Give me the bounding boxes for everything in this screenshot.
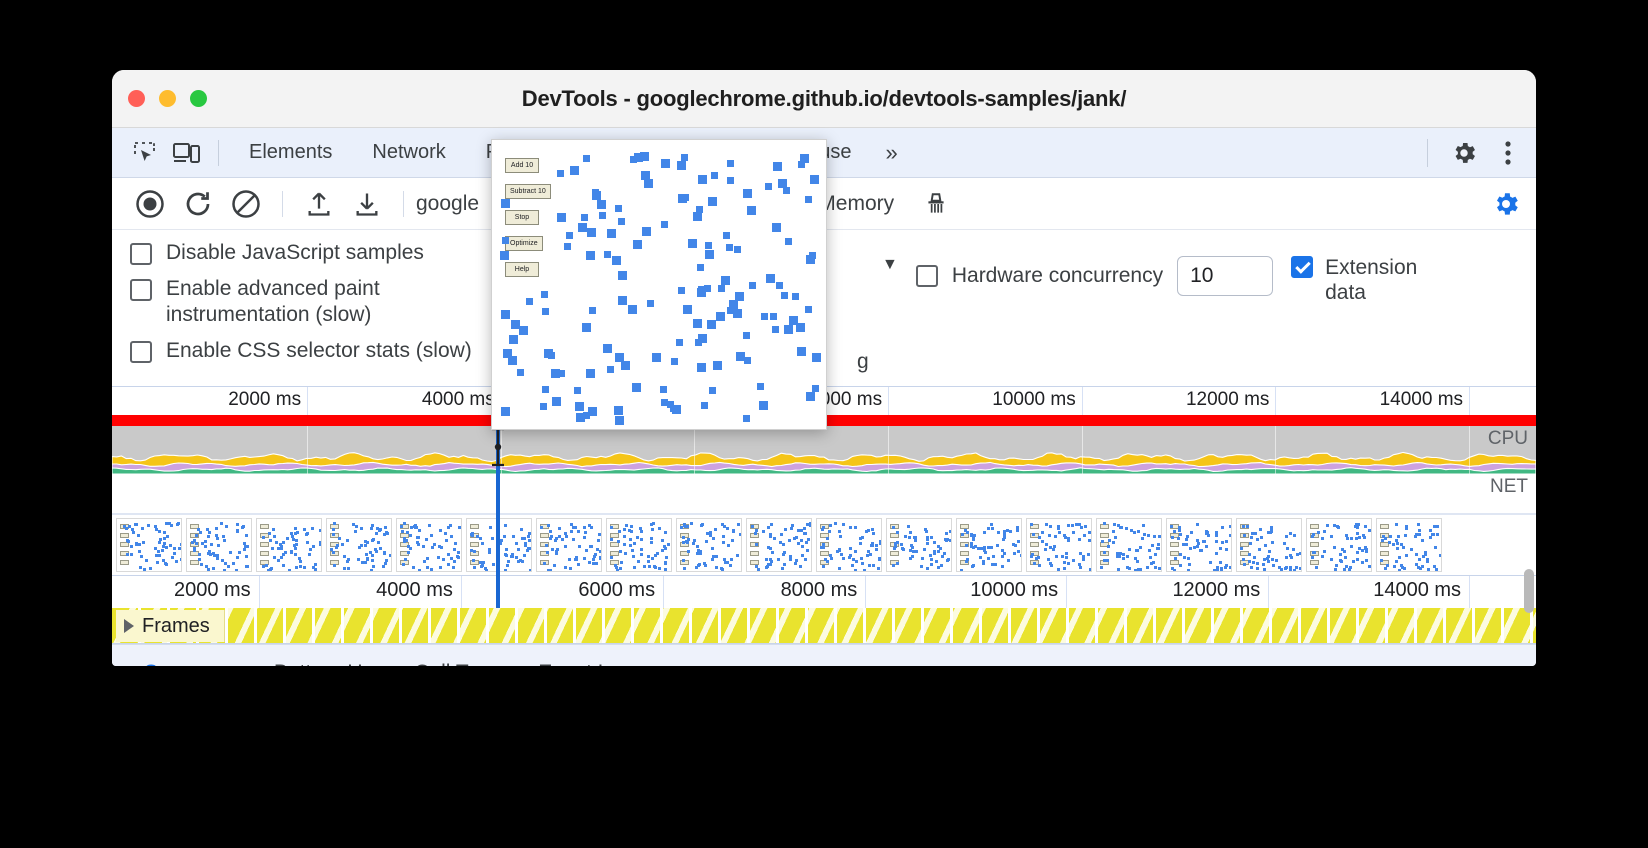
thumbnail-square	[1189, 547, 1192, 550]
thumbnail-square	[1434, 546, 1437, 549]
thumbnail-square	[806, 549, 809, 552]
thumbnail-square	[366, 558, 369, 561]
thumbnail-square	[386, 532, 389, 535]
thumbnail-square	[453, 548, 456, 551]
thumbnail-square	[1395, 523, 1398, 526]
overview-gridline	[307, 474, 308, 513]
thumbnail-square	[979, 556, 982, 559]
more-tabs-button[interactable]: »	[871, 136, 909, 170]
thumbnail-square	[997, 531, 1000, 534]
disable-js-samples-label: Disable JavaScript samples	[166, 240, 424, 266]
thumbnail-square	[1229, 534, 1232, 537]
clear-icon[interactable]	[222, 184, 270, 224]
filmstrip-thumbnail[interactable]	[536, 518, 602, 572]
preview-square	[693, 319, 702, 328]
thumbnail-square	[159, 538, 162, 541]
thumbnail-square	[1007, 559, 1010, 562]
tab-network[interactable]: Network	[352, 137, 465, 168]
thumbnail-square	[826, 560, 829, 563]
thumbnail-square	[1435, 568, 1438, 571]
thumbnail-button-glyph	[470, 542, 479, 547]
thumbnail-square	[332, 528, 335, 531]
thumbnail-square	[653, 565, 656, 568]
extension-data-label: Extension data	[1325, 256, 1435, 306]
thumbnail-square	[926, 538, 929, 541]
ruler-tick-label: 8000 ms	[781, 579, 866, 602]
preview-square	[566, 232, 573, 239]
settings-gear-icon[interactable]	[1444, 133, 1484, 173]
thumbnail-square	[839, 535, 842, 538]
thumbnail-square	[312, 545, 315, 548]
thumbnail-square	[360, 527, 363, 530]
preview-square	[798, 161, 805, 168]
filmstrip-thumbnail[interactable]	[956, 518, 1022, 572]
vertical-scrollbar-thumb[interactable]	[1524, 569, 1534, 613]
thumbnail-square	[549, 537, 552, 540]
thumbnail-square	[139, 566, 142, 569]
thumbnail-square	[262, 536, 265, 539]
thumbnail-square	[658, 527, 661, 530]
thumbnail-square	[665, 556, 668, 559]
thumbnail-square	[867, 550, 870, 553]
playhead-handle[interactable]	[490, 427, 506, 467]
thumbnail-square	[545, 544, 548, 547]
thumbnail-square	[409, 534, 412, 537]
thumbnail-square	[506, 564, 509, 567]
thumbnail-square	[221, 559, 224, 562]
thumbnail-square	[217, 544, 220, 547]
thumbnail-square	[1045, 523, 1048, 526]
thumbnail-square	[195, 542, 198, 545]
thumbnail-square	[782, 543, 785, 546]
preview-square	[812, 353, 821, 362]
thumbnail-square	[382, 565, 385, 568]
thumbnail-square	[1134, 569, 1137, 572]
thumbnail-square	[860, 557, 863, 560]
thumbnail-square	[198, 553, 201, 556]
thumbnail-square	[970, 533, 973, 536]
thumbnail-square	[1299, 567, 1302, 570]
thumbnail-square	[664, 561, 667, 564]
thumbnail-square	[272, 528, 275, 531]
thumbnail-square	[1087, 553, 1090, 556]
filmstrip-thumbnail[interactable]	[1096, 518, 1162, 572]
ruler-tick-label: 10000 ms	[970, 579, 1066, 602]
preview-square	[783, 187, 790, 194]
thumbnail-square	[619, 550, 622, 553]
preview-square	[628, 305, 637, 314]
thumbnail-square	[795, 536, 798, 539]
overview-gridline	[501, 474, 502, 513]
thumbnail-square	[966, 558, 969, 561]
preview-square	[670, 405, 677, 412]
expand-triangle-icon[interactable]	[124, 619, 134, 633]
thumbnail-square	[996, 544, 999, 547]
thumbnail-square	[859, 542, 862, 545]
preview-square	[726, 244, 733, 251]
thumbnail-square	[1361, 561, 1364, 564]
thumbnail-square	[471, 532, 474, 535]
thumbnail-square	[130, 545, 133, 548]
thumbnail-square	[1275, 559, 1278, 562]
thumbnail-square	[1017, 550, 1020, 553]
thumbnail-square	[1101, 540, 1104, 543]
thumbnail-button-glyph	[260, 551, 269, 556]
thumbnail-square	[1293, 534, 1296, 537]
advanced-paint-row[interactable]: Enable advanced paint instrumentation (s…	[130, 276, 542, 328]
screenshot-preview-popup: Add 10Subtract 10StopOptimizeHelp	[491, 139, 827, 430]
preview-square	[772, 326, 779, 333]
network-strip[interactable]: NET	[112, 474, 1536, 514]
tabbar-right-divider	[1427, 139, 1428, 167]
hardware-concurrency-input[interactable]: 10	[1177, 256, 1273, 296]
upload-profile-icon[interactable]	[295, 184, 343, 224]
thumbnail-square	[332, 551, 335, 554]
thumbnail-square	[385, 559, 388, 562]
thumbnail-square	[904, 535, 907, 538]
thumbnail-square	[433, 543, 436, 546]
thumbnail-square	[1356, 532, 1359, 535]
thumbnail-square	[1283, 542, 1286, 545]
thumbnail-square	[1344, 556, 1347, 559]
thumbnail-square	[1315, 566, 1318, 569]
cpu-activity-strip[interactable]: CPU	[112, 426, 1536, 474]
thumbnail-square	[314, 563, 317, 566]
tabbar-divider	[218, 140, 219, 166]
more-options-icon[interactable]	[1488, 133, 1528, 173]
thumbnail-square	[437, 556, 440, 559]
filmstrip-thumbnail[interactable]	[326, 518, 392, 572]
thumbnail-square	[1139, 546, 1142, 549]
thumbnail-square	[1352, 560, 1355, 563]
preview-square	[693, 212, 702, 221]
thumbnail-square	[245, 555, 248, 558]
overview-gridline	[1275, 426, 1276, 474]
thumbnail-square	[1267, 555, 1270, 558]
preview-square	[644, 179, 653, 188]
preview-square	[677, 161, 686, 170]
filmstrip-thumbnail[interactable]	[606, 518, 672, 572]
thumbnail-square	[650, 523, 653, 526]
thumbnail-square	[940, 564, 943, 567]
thumbnail-square	[319, 529, 322, 532]
thumbnail-square	[1292, 548, 1295, 551]
thumbnail-square	[1067, 562, 1070, 565]
thumbnail-square	[558, 535, 561, 538]
thumbnail-square	[207, 568, 210, 571]
filmstrip-thumbnail[interactable]	[186, 518, 252, 572]
filmstrip-thumbnail[interactable]	[1166, 518, 1232, 572]
thumbnail-square	[866, 554, 869, 557]
extension-data-row[interactable]: Extension data	[1291, 256, 1435, 306]
thumbnail-square	[1289, 532, 1292, 535]
thumbnail-square	[1343, 568, 1346, 571]
thumbnail-square	[1262, 563, 1265, 566]
disable-js-samples-row[interactable]: Disable JavaScript samples	[130, 240, 542, 266]
thumbnail-square	[1187, 557, 1190, 560]
thumbnail-square	[526, 549, 529, 552]
thumbnail-button-glyph	[260, 524, 269, 529]
thumbnail-square	[695, 566, 698, 569]
preview-square	[806, 255, 815, 264]
thumbnail-square	[173, 552, 176, 555]
thumbnail-square	[1246, 525, 1249, 528]
ruler-tick-label: 2000 ms	[228, 389, 307, 411]
thumbnail-square	[690, 522, 693, 525]
thumbnail-square	[1398, 569, 1401, 572]
capture-settings-gear-icon[interactable]	[1486, 184, 1526, 224]
thumbnail-square	[991, 527, 994, 530]
preview-square	[772, 223, 781, 232]
preview-square	[681, 154, 688, 161]
thumbnail-square	[1134, 557, 1137, 560]
filmstrip-thumbnail[interactable]	[746, 518, 812, 572]
window-titlebar: DevTools - googlechrome.github.io/devtoo…	[112, 70, 1536, 128]
frames-track-header[interactable]: Frames	[116, 610, 225, 642]
tab-event-log[interactable]: Event Log	[522, 651, 649, 666]
chevron-down-icon[interactable]: ▼	[882, 256, 898, 274]
thumbnail-square	[335, 546, 338, 549]
thumbnail-square	[789, 558, 792, 561]
css-selector-stats-row[interactable]: Enable CSS selector stats (slow)	[130, 338, 542, 364]
preview-square	[508, 356, 517, 365]
thumbnail-square	[131, 528, 134, 531]
filmstrip-thumbnail[interactable]	[116, 518, 182, 572]
thumbnail-square	[859, 537, 862, 540]
hardware-concurrency-checkbox[interactable]	[916, 265, 938, 287]
thumbnail-button-glyph	[1380, 551, 1389, 556]
hardware-concurrency-row[interactable]: Hardware concurrency 10	[916, 256, 1273, 296]
preview-square	[586, 369, 595, 378]
thumbnail-square	[180, 543, 182, 546]
thumbnail-square	[599, 557, 602, 560]
download-profile-icon[interactable]	[343, 184, 391, 224]
filmstrip-thumbnail[interactable]	[886, 518, 952, 572]
thumbnail-square	[1396, 542, 1399, 545]
thumbnail-square	[360, 544, 363, 547]
ruler-tick	[1268, 576, 1269, 608]
thumbnail-square	[1044, 548, 1047, 551]
preview-square	[744, 357, 751, 364]
thumbnail-square	[656, 552, 659, 555]
thumbnail-square	[1286, 547, 1289, 550]
filmstrip-thumbnail[interactable]	[396, 518, 462, 572]
preview-square	[612, 256, 621, 265]
thumbnail-square	[762, 530, 765, 533]
thumbnail-square	[1293, 569, 1296, 572]
record-icon[interactable]	[126, 184, 174, 224]
thumbnail-square	[705, 540, 708, 543]
extension-data-checkbox[interactable]	[1291, 256, 1313, 278]
thumbnail-square	[1205, 545, 1208, 548]
filmstrip-thumbnail[interactable]	[676, 518, 742, 572]
thumbnail-square	[1065, 552, 1068, 555]
thumbnail-square	[633, 566, 636, 569]
preview-square	[743, 415, 750, 422]
advanced-paint-checkbox[interactable]	[130, 279, 152, 301]
thumbnail-square	[375, 532, 378, 535]
thumbnail-square	[450, 535, 453, 538]
thumbnail-square	[838, 567, 841, 570]
thumbnail-square	[757, 568, 760, 571]
thumbnail-square	[714, 528, 717, 531]
thumbnail-square	[788, 539, 791, 542]
thumbnail-square	[551, 548, 554, 551]
thumbnail-square	[961, 533, 964, 536]
thumbnail-square	[584, 531, 587, 534]
preview-square	[652, 353, 661, 362]
thumbnail-square	[472, 559, 475, 562]
reload-and-record-icon[interactable]	[174, 184, 222, 224]
thumbnail-square	[900, 543, 903, 546]
thumbnail-square	[1389, 535, 1392, 538]
thumbnail-square	[1146, 566, 1149, 569]
thumbnail-square	[712, 537, 715, 540]
thumbnail-square	[515, 542, 518, 545]
thumbnail-square	[1225, 564, 1228, 567]
toolbar-divider-2	[403, 191, 404, 217]
thumbnail-square	[1260, 536, 1263, 539]
thumbnail-square	[909, 557, 912, 560]
thumbnail-square	[1016, 529, 1019, 532]
thumbnail-square	[243, 548, 246, 551]
advanced-paint-label: Enable advanced paint instrumentation (s…	[166, 276, 516, 328]
tab-summary[interactable]: Summary	[128, 651, 250, 666]
thumbnail-square	[379, 528, 382, 531]
preview-square	[583, 155, 590, 162]
thumbnail-square	[572, 538, 575, 541]
thumbnail-square	[797, 542, 800, 545]
frames-hatch-pattern	[112, 608, 1536, 643]
thumbnail-square	[170, 524, 173, 527]
preview-square	[603, 344, 612, 353]
thumbnail-square	[280, 556, 283, 559]
thumbnail-square	[312, 566, 315, 569]
thumbnail-square	[930, 563, 933, 566]
thumbnail-square	[280, 545, 283, 548]
thumbnail-square	[614, 564, 617, 567]
thumbnail-square	[1100, 566, 1103, 569]
thumbnail-square	[926, 542, 929, 545]
thumbnail-square	[273, 556, 276, 559]
filmstrip-thumbnail[interactable]	[256, 518, 322, 572]
disable-js-samples-checkbox[interactable]	[130, 243, 152, 265]
thumbnail-square	[1078, 563, 1081, 566]
thumbnail-square	[658, 567, 661, 570]
thumbnail-square	[803, 527, 806, 530]
thumbnail-square	[1030, 523, 1033, 526]
thumbnail-square	[1295, 566, 1298, 569]
thumbnail-square	[1088, 539, 1091, 542]
thumbnail-square	[941, 555, 944, 558]
thumbnail-square	[1268, 550, 1271, 553]
css-selector-stats-checkbox[interactable]	[130, 341, 152, 363]
inspect-element-icon[interactable]	[124, 135, 166, 171]
thumbnail-square	[1384, 567, 1387, 570]
thumbnail-square	[597, 539, 600, 542]
filmstrip-thumbnail[interactable]	[816, 518, 882, 572]
thumbnail-square	[1106, 559, 1109, 562]
frames-track[interactable]: Frames	[112, 608, 1536, 644]
thumbnail-square	[871, 528, 874, 531]
thumbnail-square	[244, 545, 247, 548]
thumbnail-square	[347, 567, 350, 570]
preview-square	[589, 307, 596, 314]
preview-square	[743, 189, 752, 198]
thumbnail-square	[547, 569, 550, 572]
tab-call-tree[interactable]: Call Tree	[398, 651, 514, 666]
thumbnail-square	[149, 567, 152, 570]
filmstrip-thumbnail[interactable]	[1236, 518, 1302, 572]
preview-button-subtract-10: Subtract 10	[505, 184, 551, 199]
thumbnail-button-glyph	[1030, 542, 1039, 547]
preview-square	[607, 366, 614, 373]
thumbnail-square	[925, 530, 928, 533]
thumbnail-square	[454, 542, 457, 545]
thumbnail-square	[413, 525, 416, 528]
thumbnail-square	[245, 534, 248, 537]
preview-square	[575, 402, 584, 411]
thumbnail-button-glyph	[1310, 542, 1319, 547]
thumbnail-square	[1001, 565, 1004, 568]
net-strip-label: NET	[1490, 476, 1528, 498]
ruler-tick-label: 14000 ms	[1373, 579, 1469, 602]
thumbnail-square	[1361, 549, 1364, 552]
thumbnail-square	[809, 524, 812, 527]
preview-square	[770, 313, 777, 320]
thumbnail-square	[987, 527, 990, 530]
thumbnail-square	[1418, 558, 1421, 561]
thumbnail-square	[1285, 535, 1288, 538]
thumbnail-square	[484, 567, 487, 570]
tab-bottom-up[interactable]: Bottom-Up	[258, 651, 390, 666]
thumbnail-square	[507, 560, 510, 563]
thumbnail-square	[450, 557, 453, 560]
thumbnail-square	[207, 535, 210, 538]
thumbnail-square	[1196, 545, 1199, 548]
thumbnail-square	[1225, 540, 1228, 543]
thumbnail-square	[1013, 552, 1016, 555]
thumbnail-square	[268, 532, 271, 535]
device-toolbar-icon[interactable]	[166, 135, 208, 171]
thumbnail-square	[1179, 564, 1182, 567]
collect-garbage-icon[interactable]	[912, 184, 960, 224]
ruler-tick-label: 4000 ms	[422, 389, 501, 411]
filmstrip-thumbnail[interactable]	[1026, 518, 1092, 572]
thumbnail-square	[722, 541, 725, 544]
preview-square	[698, 334, 707, 343]
thumbnail-square	[143, 568, 146, 571]
thumbnail-square	[1112, 530, 1115, 533]
thumbnail-square	[519, 559, 522, 562]
thumbnail-square	[171, 556, 174, 559]
thumbnail-square	[505, 554, 508, 557]
thumbnail-square	[1038, 564, 1041, 567]
thumbnail-square	[937, 566, 940, 569]
thumbnail-square	[1405, 527, 1408, 530]
filmstrip-thumbnail[interactable]	[1306, 518, 1372, 572]
preview-square	[705, 250, 714, 259]
thumbnail-square	[822, 565, 825, 568]
filmstrip-thumbnail[interactable]	[1376, 518, 1442, 572]
thumbnail-square	[223, 569, 226, 572]
screenshots-filmstrip[interactable]	[112, 514, 1536, 576]
thumbnail-square	[543, 562, 546, 565]
tab-elements[interactable]: Elements	[229, 137, 352, 168]
thumbnail-square	[633, 542, 636, 545]
thumbnail-square	[1417, 523, 1420, 526]
thumbnail-square	[1339, 553, 1342, 556]
